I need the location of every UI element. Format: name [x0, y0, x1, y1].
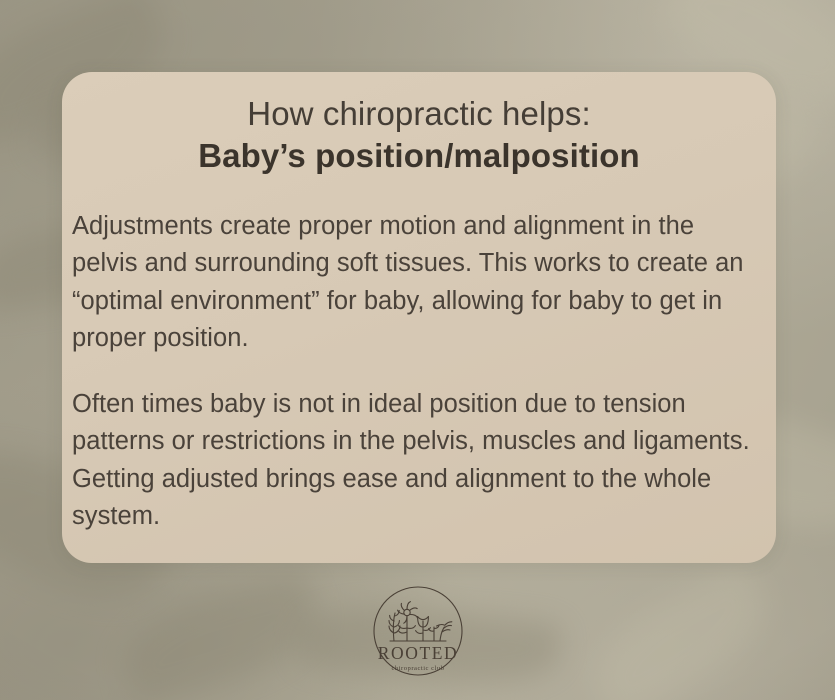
- content-card: How chiropractic helps: Baby’s position/…: [62, 72, 776, 563]
- page-title: How chiropractic helps: Baby’s position/…: [72, 94, 766, 178]
- poster-canvas: How chiropractic helps: Baby’s position/…: [0, 0, 835, 700]
- logo-tagline: chiropractic club: [391, 665, 444, 672]
- logo-wordmark: ROOTED: [377, 643, 458, 663]
- title-line-1: How chiropractic helps:: [72, 94, 766, 134]
- paragraph-2: Often times baby is not in ideal positio…: [72, 386, 764, 536]
- card-inner: How chiropractic helps: Baby’s position/…: [72, 94, 766, 536]
- body-text: Adjustments create proper motion and ali…: [72, 208, 766, 536]
- brand-logo: ROOTED chiropractic club: [370, 583, 466, 679]
- paragraph-1: Adjustments create proper motion and ali…: [72, 208, 764, 358]
- title-line-2: Baby’s position/malposition: [72, 134, 766, 178]
